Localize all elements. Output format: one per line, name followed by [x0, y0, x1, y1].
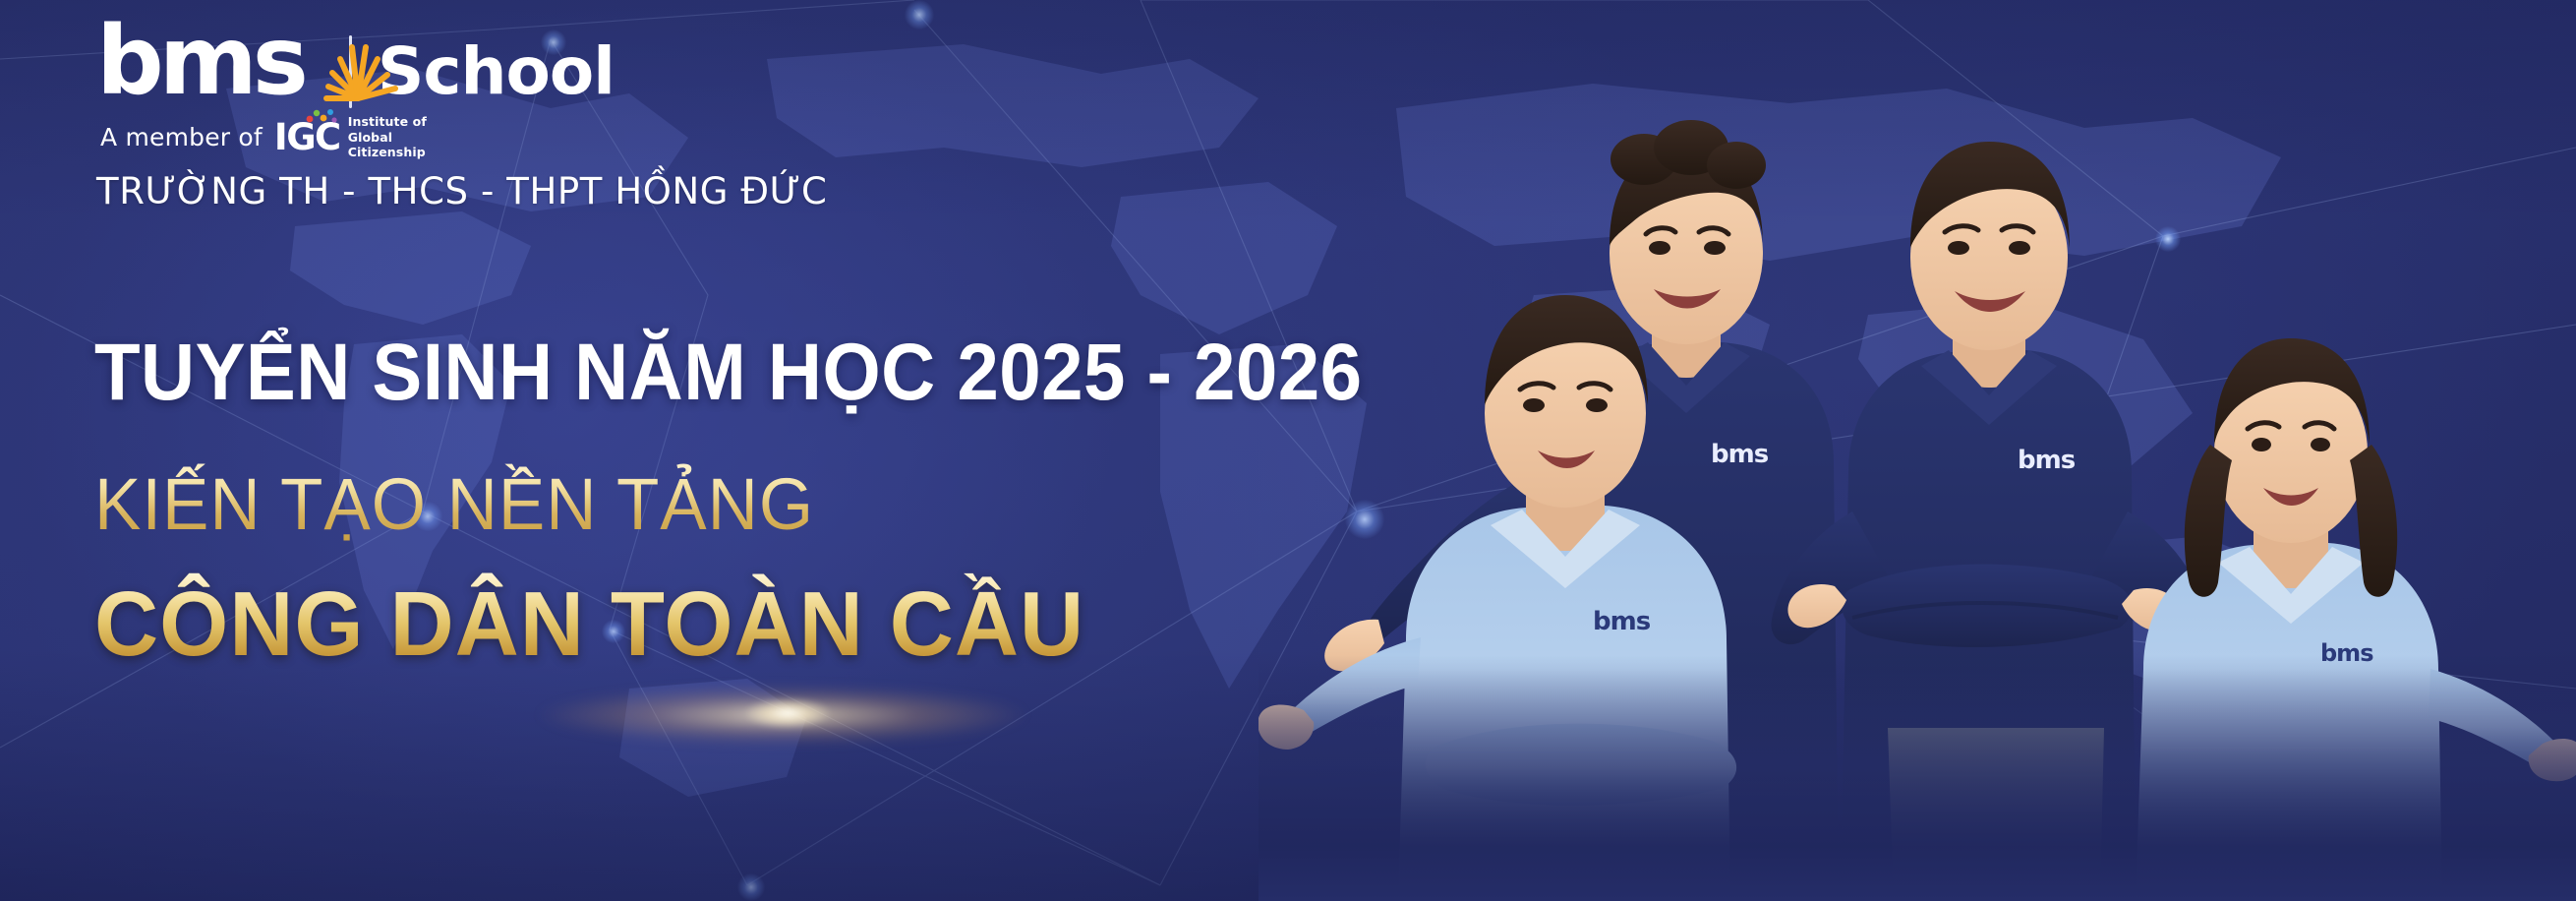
igc-dots-icon	[304, 108, 337, 126]
admissions-headline: TUYỂN SINH NĂM HỌC 2025 - 2026	[94, 327, 1363, 419]
school-full-name: TRƯỜNG TH - THCS - THPT HỒNG ĐỨC	[96, 170, 827, 212]
svg-text:bms: bms	[1593, 607, 1651, 636]
igc-tagline-line1: Institute of	[348, 114, 427, 130]
svg-text:bms: bms	[2320, 639, 2373, 667]
headline-block: TUYỂN SINH NĂM HỌC 2025 - 2026 KIẾN TẠO …	[94, 327, 1458, 677]
tagline-line-2: CÔNG DÂN TOÀN CẦU	[94, 571, 1417, 677]
tagline-line-1: KIẾN TẠO NỀN TẢNG	[94, 462, 1403, 546]
tagline-line-2-wrap: CÔNG DÂN TOÀN CẦU	[94, 571, 1458, 677]
sunburst-icon	[309, 8, 407, 106]
igc-tagline: Institute of Global Citizenship	[348, 114, 427, 160]
svg-text:bms: bms	[2018, 446, 2076, 475]
igc-wordmark: IGC	[274, 119, 340, 155]
igc-member-row: A member of IGC Institute of Global Citi…	[100, 114, 827, 160]
svg-text:bms: bms	[1711, 440, 1769, 469]
admissions-banner: bms bms	[0, 0, 2576, 901]
igc-tagline-line3: Citizenship	[348, 145, 427, 160]
brand-logo-block[interactable]: bms School	[96, 16, 827, 212]
school-word: School	[378, 39, 615, 104]
light-flare-core	[743, 695, 832, 731]
bms-logo[interactable]: bms	[96, 16, 304, 106]
igc-tagline-line2: Global	[348, 130, 427, 146]
member-prefix: A member of	[100, 123, 263, 151]
igc-logo: IGC Institute of Global Citizenship	[274, 114, 427, 160]
bms-wordmark: bms	[96, 16, 304, 106]
